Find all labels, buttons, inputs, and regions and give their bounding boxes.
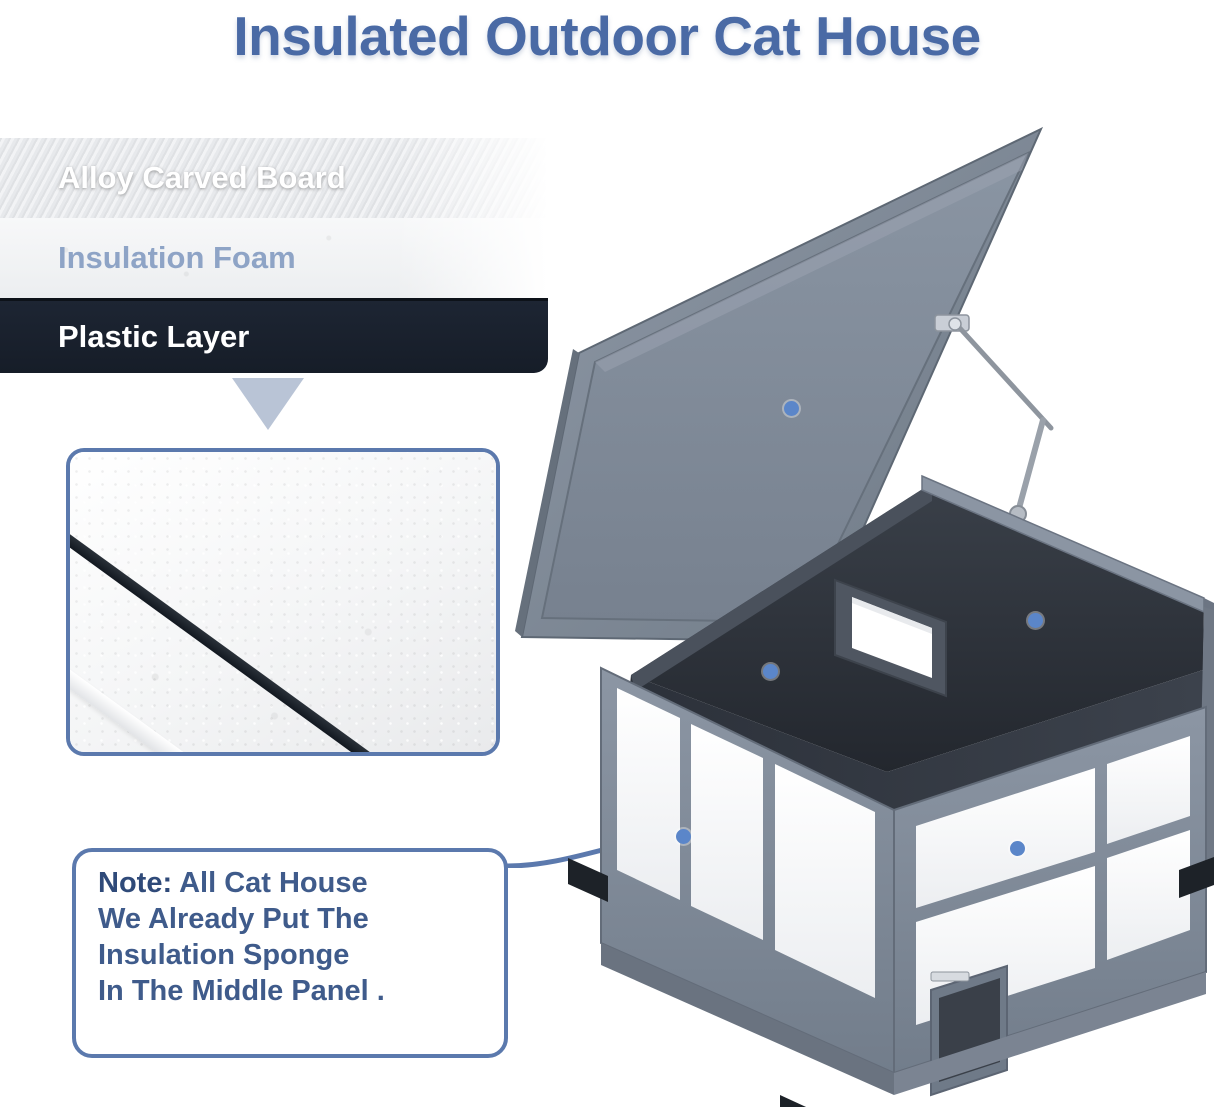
foot-front <box>780 1095 830 1107</box>
note-lead-label: Note: <box>98 867 172 899</box>
marker-front-panel <box>676 829 691 844</box>
layer-alloy-label: Alloy Carved Board <box>58 160 346 196</box>
marker-interior-right <box>1028 613 1043 628</box>
page-title: Insulated Outdoor Cat House <box>0 4 1214 68</box>
marker-side-panel <box>1010 841 1025 856</box>
note-text: Note: All Cat House We Already Put The I… <box>98 866 486 1010</box>
layer-plastic-layer: Plastic Layer <box>0 298 548 373</box>
note-line-1: All Cat House <box>172 867 368 899</box>
note-line-2: We Already Put The <box>98 903 369 935</box>
material-layer-stack: Alloy Carved Board Insulation Foam Plast… <box>0 138 548 378</box>
layer-plastic-label: Plastic Layer <box>58 319 249 355</box>
marker-lid <box>784 401 799 416</box>
layer-foam-label: Insulation Foam <box>58 240 296 276</box>
down-arrow-icon <box>232 378 304 430</box>
product-image <box>495 110 1214 1107</box>
note-line-3: Insulation Sponge <box>98 939 349 971</box>
foam-texture-overlay <box>70 452 496 752</box>
layer-insulation-foam: Insulation Foam <box>0 218 548 298</box>
note-callout: Note: All Cat House We Already Put The I… <box>72 848 508 1058</box>
cat-house-illustration <box>495 110 1214 1107</box>
marker-interior-left <box>763 664 778 679</box>
foam-closeup-card <box>66 448 500 756</box>
note-line-4: In The Middle Panel . <box>98 975 385 1007</box>
layer-alloy-carved-board: Alloy Carved Board <box>0 138 548 218</box>
